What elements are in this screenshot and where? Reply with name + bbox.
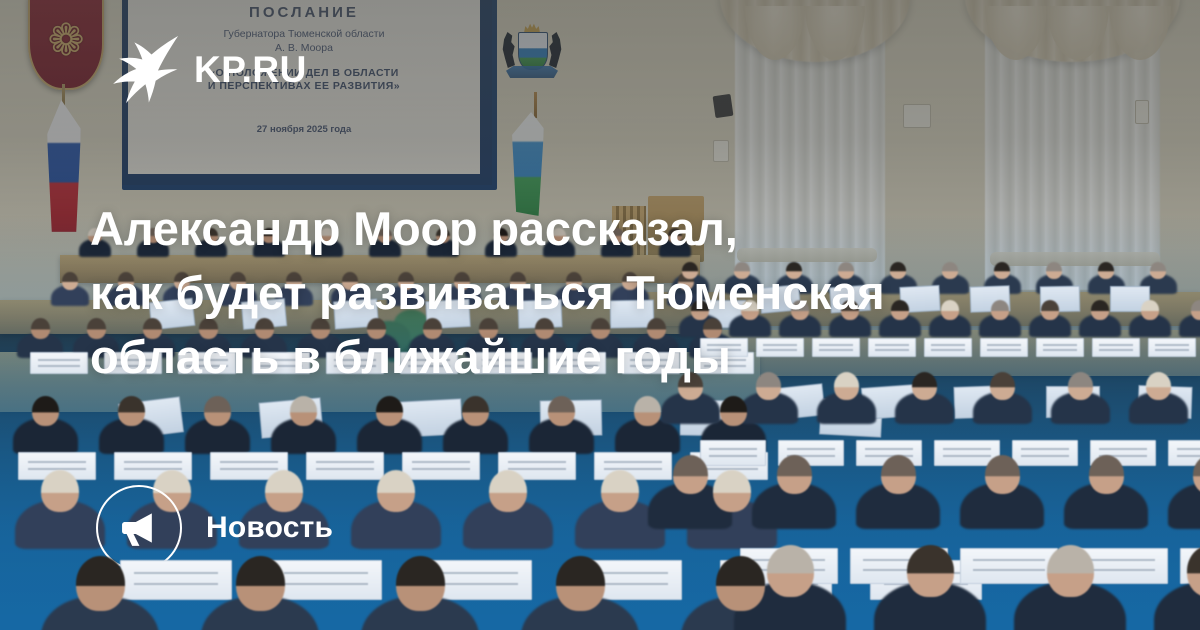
audience-member-head [713, 470, 751, 512]
audience-member-head [76, 556, 125, 611]
nameplate-text-line [316, 461, 374, 463]
nameplate-text-line [865, 448, 914, 450]
audience-member-head [1047, 545, 1094, 597]
nameplate-text-line [1155, 349, 1190, 351]
badge-label: Новость [206, 513, 333, 543]
nameplate-text-line [1021, 448, 1070, 450]
nameplate-text-line [38, 359, 81, 361]
audience-member-head [118, 396, 145, 426]
nameplate-text-line [1083, 559, 1156, 561]
audience-member-head [720, 396, 747, 426]
nameplate-text-line [134, 583, 218, 585]
desk-nameplate [700, 440, 766, 466]
desk-nameplate [1148, 338, 1196, 357]
audience-member-head [236, 556, 285, 611]
desk-nameplate [306, 452, 384, 480]
nameplate-text-line [124, 461, 182, 463]
nameplate-text-line [709, 455, 758, 457]
page-title: Александр Моор рассказал, как будет разв… [90, 197, 1100, 389]
desk-nameplate [1012, 440, 1078, 466]
nameplate-text-line [604, 468, 662, 470]
audience-member-head [1089, 455, 1124, 494]
audience-member-head [548, 396, 575, 426]
audience-member-head [634, 396, 661, 426]
audience-member-head [556, 556, 605, 611]
audience-member-head [1191, 300, 1200, 320]
nameplate-text-line [316, 468, 374, 470]
nameplate-text-line [508, 468, 566, 470]
nameplate-text-line [220, 468, 278, 470]
desk-nameplate [402, 452, 480, 480]
audience-member-head [907, 545, 954, 597]
nameplate-text-line [1099, 349, 1134, 351]
swallow-bird-icon [104, 34, 180, 104]
nameplate-text-line [434, 583, 518, 585]
kp-wordmark: KP.RU [194, 51, 307, 88]
audience-member-head [1141, 300, 1159, 320]
desk-nameplate [120, 560, 232, 600]
nameplate-text-line [787, 448, 836, 450]
headline-line-2: как будет развиваться Тюменская [90, 261, 1100, 325]
nameplate-text-line [284, 572, 368, 574]
desk-nameplate [960, 548, 1058, 584]
audience-member-head [32, 396, 59, 426]
nameplate-text-line [1155, 344, 1190, 346]
audience-member-head [290, 396, 317, 426]
megaphone-icon [117, 506, 161, 550]
category-badge[interactable]: Новость [96, 485, 333, 571]
nameplate-text-line [943, 448, 992, 450]
audience-member-head [881, 455, 916, 494]
audience-member-head [985, 455, 1020, 494]
nameplate-text-line [38, 365, 81, 367]
news-share-card: ПОСЛАНИЕ Губернатора Тюменской области А… [0, 0, 1200, 630]
audience-member-head [1098, 262, 1114, 279]
nameplate-text-line [604, 461, 662, 463]
nameplate-text-line [709, 448, 758, 450]
nameplate-text-line [1021, 455, 1070, 457]
audience-member-head [62, 272, 78, 290]
nameplate-text-line [412, 461, 470, 463]
nameplate-text-line [973, 569, 1046, 571]
nameplate-text-line [943, 455, 992, 457]
audience-member-head [204, 396, 231, 426]
audience-member-head [489, 470, 527, 512]
audience-member-head [673, 455, 708, 494]
nameplate-text-line [134, 572, 218, 574]
audience-member-head [777, 455, 812, 494]
nameplate-text-line [434, 572, 518, 574]
nameplate-text-line [412, 468, 470, 470]
headline-line-3: область в ближайшие годы [90, 325, 1100, 389]
nameplate-text-line [1099, 448, 1148, 450]
audience-member-head [1146, 372, 1171, 400]
audience-member-head [396, 556, 445, 611]
desk-nameplate [270, 560, 382, 600]
audience-member-head [767, 545, 814, 597]
nameplate-text-line [508, 461, 566, 463]
audience-member-head [1150, 262, 1166, 279]
nameplate-text-line [1099, 344, 1134, 346]
headline-line-1: Александр Моор рассказал, [90, 197, 1100, 261]
nameplate-text-line [1177, 455, 1200, 457]
nameplate-text-line [28, 461, 86, 463]
audience-member-head [377, 470, 415, 512]
desk-nameplate [1168, 440, 1200, 466]
audience-member-head [601, 470, 639, 512]
kp-logo[interactable]: KP.RU [104, 34, 307, 104]
nameplate-text-line [973, 559, 1046, 561]
audience-member-head [41, 470, 79, 512]
nameplate-text-line [1177, 448, 1200, 450]
audience-member-head [462, 396, 489, 426]
audience-member-head [31, 318, 50, 339]
nameplate-text-line [284, 583, 368, 585]
audience-member-head [376, 396, 403, 426]
nameplate-text-line [220, 461, 278, 463]
desk-nameplate [30, 352, 88, 374]
audience-member-head [716, 556, 765, 611]
